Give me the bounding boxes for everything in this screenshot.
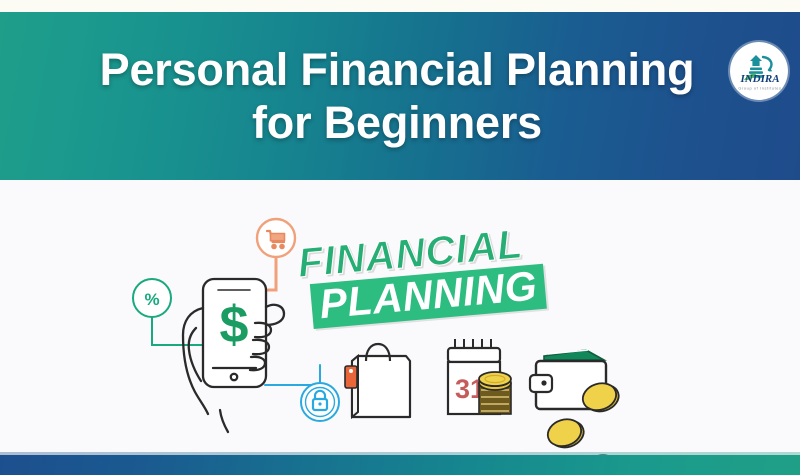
- top-strip: [0, 0, 800, 12]
- page-title-line2: for Beginners: [50, 96, 744, 149]
- percent-badge-label: %: [144, 290, 159, 309]
- coin-stack: [479, 372, 511, 414]
- page-title: Personal Financial Planning for Beginner…: [50, 43, 750, 149]
- phone-dollar-sign: $: [220, 296, 249, 354]
- shopping-cart-badge: [257, 219, 295, 257]
- lock-badge: [301, 383, 339, 421]
- logo-tagline-text: Group of Institutes: [738, 86, 781, 91]
- indira-logo-icon: INDIRA Group of Institutes: [730, 42, 788, 100]
- footer-bar: [0, 455, 800, 475]
- connector-lock: [265, 365, 320, 385]
- percent-badge: %: [133, 279, 171, 317]
- slide-root: Personal Financial Planning for Beginner…: [0, 0, 800, 475]
- brand-logo: INDIRA Group of Institutes: [730, 42, 788, 100]
- page-title-line1: Personal Financial Planning: [100, 44, 695, 95]
- shopping-bag: [345, 344, 410, 417]
- header-banner: Personal Financial Planning for Beginner…: [0, 12, 800, 180]
- logo-brand-text: INDIRA: [739, 73, 779, 85]
